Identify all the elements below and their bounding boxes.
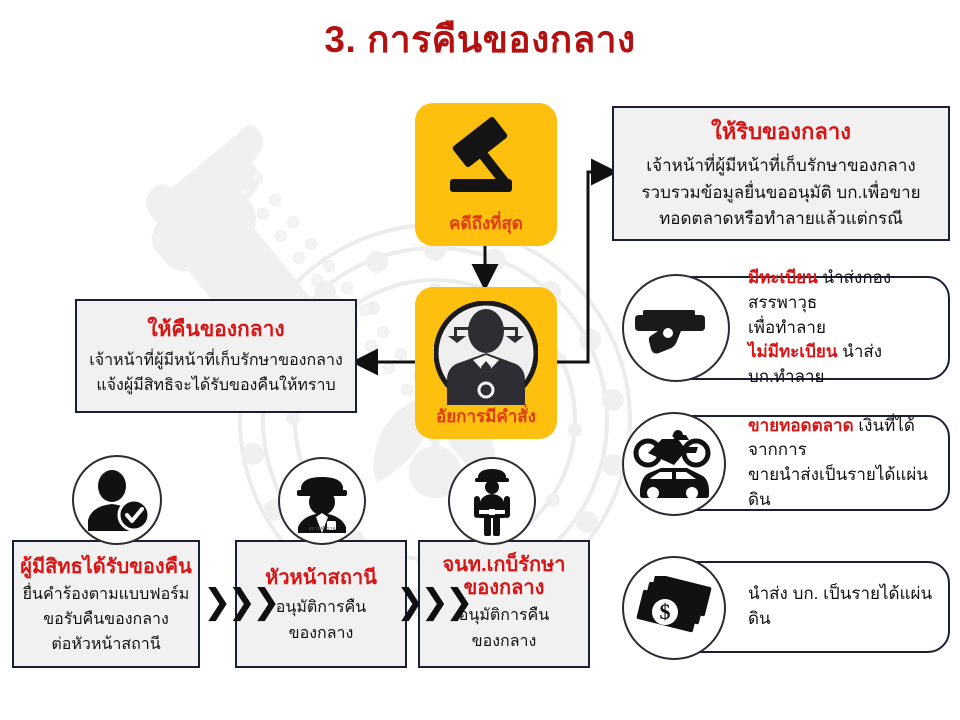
page-title: 3. การคืนของกลาง xyxy=(0,18,960,62)
workflow-card-2-line-1: อนุมัติการคืน xyxy=(276,595,366,621)
box-return-line-1: เจ้าหน้าที่ผู้มีหน้าที่เก็บรักษาของกลาง xyxy=(89,349,343,374)
svg-text:$: $ xyxy=(660,599,671,624)
disposal-icon-circle-money: $ xyxy=(622,556,726,660)
workflow-card-1-line-3: ต่อหัวหน้าสถานี xyxy=(51,633,160,658)
box-confiscate-line-2: รวบรวมข้อมูลยื่นขออนุมัติ บก.เพื่อขาย xyxy=(641,180,920,207)
box-return-heading: ให้คืนของกลาง xyxy=(147,313,284,346)
node-case-final-caption: คดีถึงที่สุด xyxy=(415,210,557,237)
box-return-line-2: แจ้งผู้มีสิทธิจะได้รับของคืนให้ทราบ xyxy=(96,374,335,399)
money-icon: $ xyxy=(633,576,715,640)
vehicle-icon xyxy=(632,427,716,501)
workflow-card-2-line-2: ของกลาง xyxy=(289,621,354,647)
workflow-card-1-line-2: ขอรับคืนของกลาง xyxy=(43,608,169,633)
handgun-registered-label: มีทะเบียน xyxy=(748,268,818,287)
handgun-registered-text-2: เพื่อทำลาย xyxy=(748,316,936,341)
workflow-card-3-line-2: ของกลาง xyxy=(472,629,537,655)
prosecutor-icon xyxy=(434,301,538,405)
gavel-icon xyxy=(432,117,540,203)
workflow-card-3-heading-line-1: จนท.เกบ็รักษา xyxy=(442,554,565,578)
box-confiscate-line-1: เจ้าหน้าที่ผู้มีหน้าที่เก็บรักษาของกลาง xyxy=(646,153,915,180)
officer-standing-icon xyxy=(468,466,516,536)
workflow-card-2-heading: หัวหน้าสถานี xyxy=(265,561,377,593)
workflow-icon-circle-2: สถานีตำรวจ xyxy=(278,457,366,545)
workflow-chevron-2: ❯❯❯ xyxy=(396,585,469,619)
handgun-icon xyxy=(635,299,717,357)
workflow-card-1-line-1: ยื่นคำร้องตามแบบฟอร์ม xyxy=(23,583,190,608)
workflow-card-3-heading-line-2: ของกลาง xyxy=(464,577,545,601)
disposal-icon-circle-handgun xyxy=(622,274,730,382)
handgun-unregistered-label: ไม่มีทะเบียน xyxy=(748,342,837,361)
box-return: ให้คืนของกลาง เจ้าหน้าที่ผู้มีหน้าที่เก็… xyxy=(75,299,357,413)
box-confiscate-heading: ให้ริบของกลาง xyxy=(711,114,851,149)
person-check-icon xyxy=(84,469,150,531)
vehicle-auction-text-2: ขายนำส่งเป็นรายได้แผ่นดิน xyxy=(748,463,936,512)
disposal-icon-circle-vehicle xyxy=(622,412,726,516)
box-confiscate: ให้ริบของกลาง เจ้าหน้าที่ผู้มีหน้าที่เก็… xyxy=(612,106,950,241)
workflow-card-1-heading: ผู้มีสิทธได้รับของคืน xyxy=(20,550,191,582)
infographic-canvas: 3. การคืนของกลาง คดีถึงที่สุด xyxy=(0,0,960,720)
node-case-final[interactable]: คดีถึงที่สุด xyxy=(415,103,557,246)
node-prosecutor-caption: อัยการมีคำสั่ง xyxy=(415,403,557,430)
workflow-icon-circle-3 xyxy=(448,457,536,545)
workflow-icon-circle-1 xyxy=(72,455,162,545)
police-chief-icon: สถานีตำรวจ xyxy=(289,469,355,533)
node-prosecutor-order[interactable]: อัยการมีคำสั่ง xyxy=(415,287,557,439)
workflow-card-1: ผู้มีสิทธได้รับของคืน ยื่นคำร้องตามแบบฟอ… xyxy=(12,540,200,668)
box-confiscate-line-3: ทอดตลาดหรือทำลายแล้วแต่กรณี xyxy=(659,206,903,233)
workflow-chevron-1: ❯❯❯ xyxy=(203,585,276,619)
vehicle-auction-label: ขายทอดตลาด xyxy=(748,416,854,435)
workflow-card-3-line-1: อนุมัติการคืน xyxy=(459,603,549,629)
svg-text:สถานีตำรวจ: สถานีตำรวจ xyxy=(309,525,336,532)
money-proceeds-text: นำส่ง บก. เป็นรายได้แผ่นดิน xyxy=(748,582,936,631)
